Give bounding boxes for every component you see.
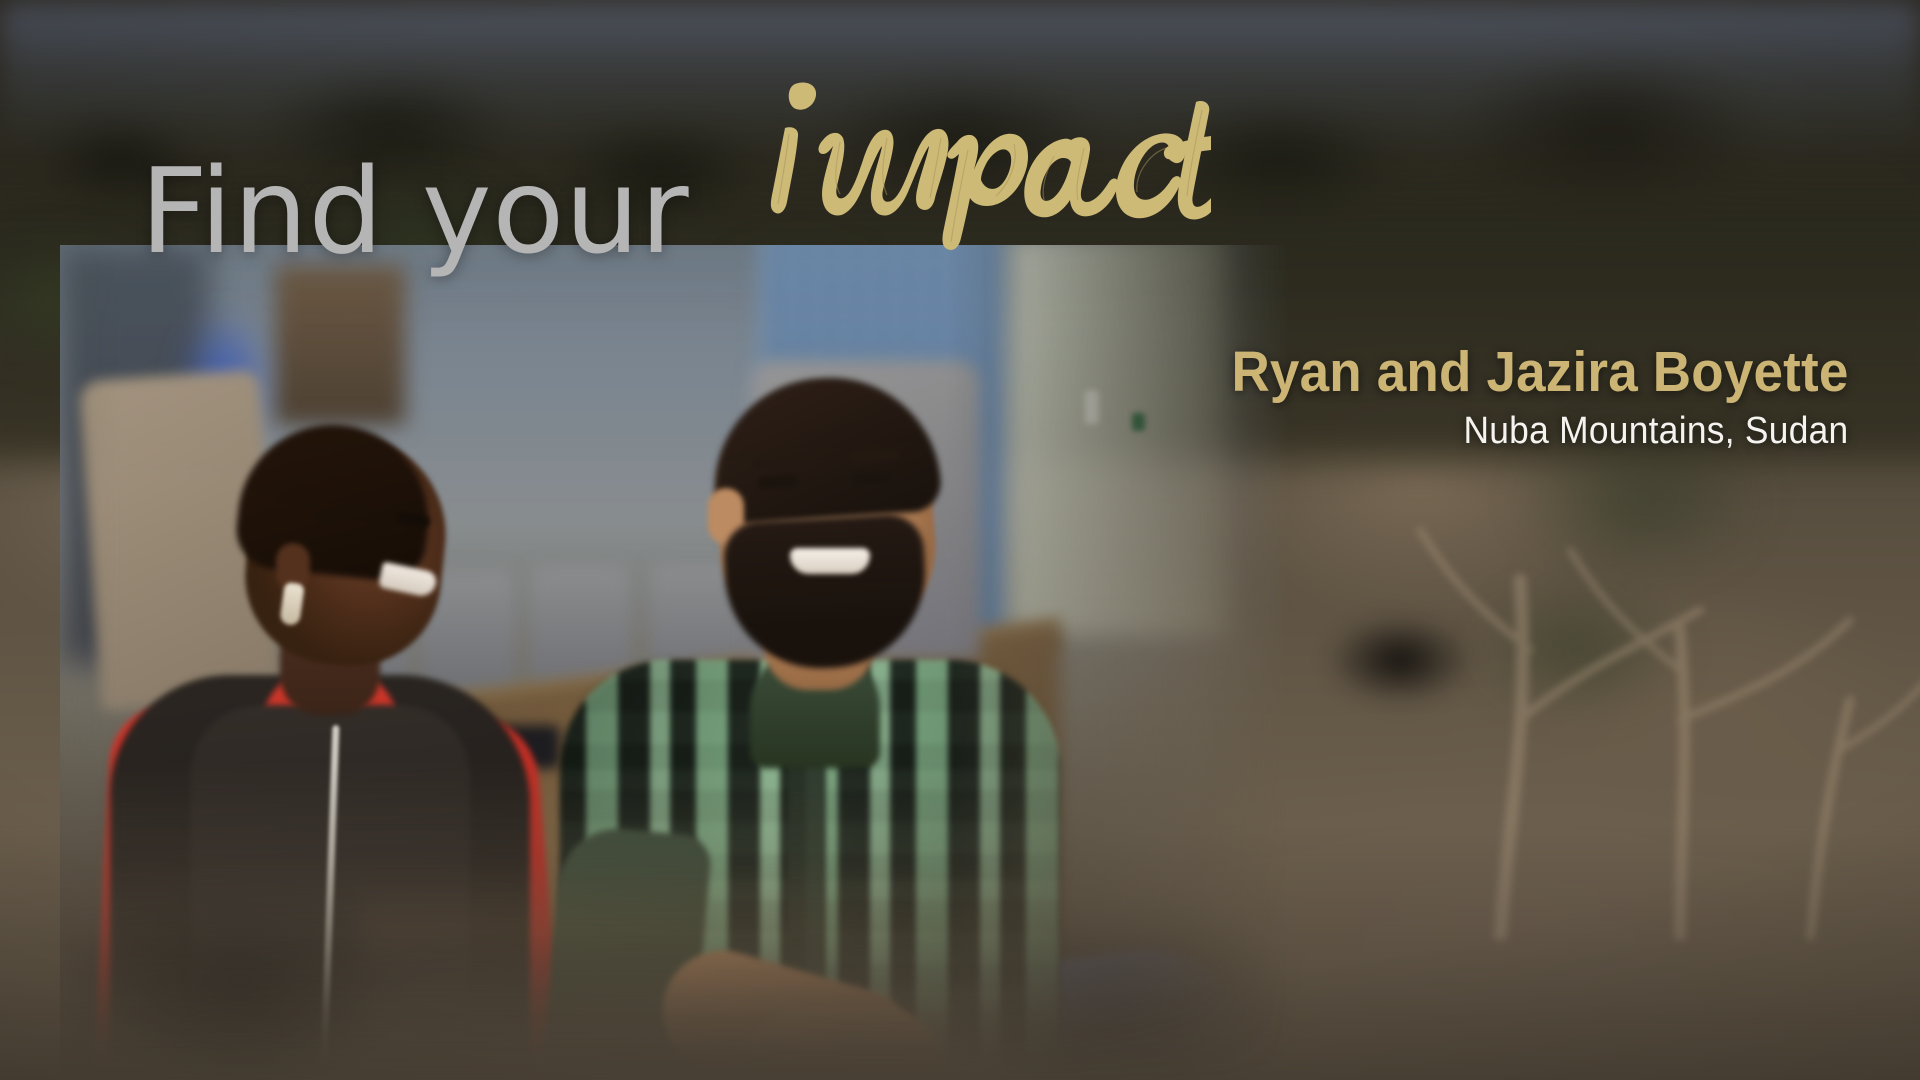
credit-block: Ryan and Jazira Boyette Nuba Mountains, …	[1185, 342, 1849, 453]
subjects-group	[60, 245, 1290, 1080]
woman-hair	[233, 415, 438, 584]
subject-name: Ryan and Jazira Boyette	[1231, 342, 1848, 404]
interview-photo-panel	[60, 245, 1290, 1080]
man-hands	[740, 1010, 940, 1080]
headline-primary-text: Find your	[140, 152, 689, 270]
subject-woman	[80, 285, 600, 1080]
headline: Find your	[140, 72, 1211, 270]
impact-script-lettering	[741, 62, 1211, 252]
subject-location: Nuba Mountains, Sudan	[1231, 410, 1848, 453]
headline-accent-script	[741, 62, 1211, 252]
man-smile	[790, 548, 870, 574]
title-card: Find your	[0, 0, 1920, 1080]
subject-man	[540, 270, 1190, 1080]
